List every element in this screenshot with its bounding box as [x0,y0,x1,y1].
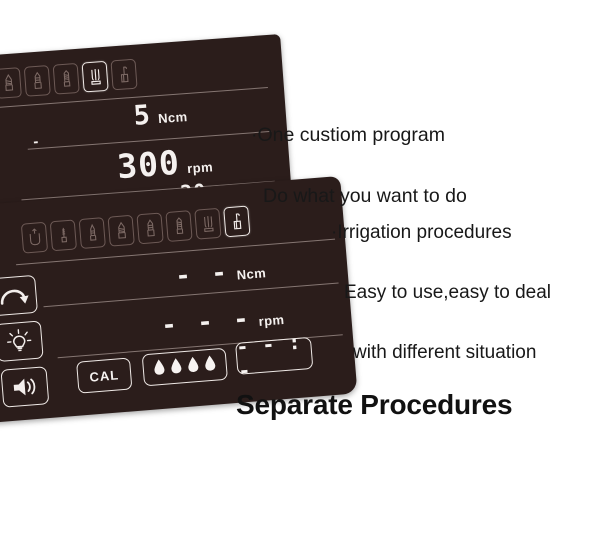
drill-twist-icon[interactable] [0,67,22,99]
implant-screw-icon[interactable] [53,63,80,95]
lower-torque-readout: - - Ncm [174,256,266,288]
upper-minus-indicator: - [33,134,39,149]
light-button[interactable] [0,320,44,362]
drill-twist-icon[interactable] [108,215,135,247]
volume-button[interactable] [0,366,49,408]
lower-ratio-label: - - : - [235,329,313,383]
lower-torque-value: - - [174,259,230,288]
tap-tool-icon[interactable] [82,61,109,93]
water-drop-filled-icon [169,356,184,380]
lower-procedure-icon-row[interactable] [21,205,251,253]
annotation-2-line2: Easy to use,easy to deal [344,282,551,303]
lower-speed-value: - - - [160,306,252,338]
lower-torque-unit: Ncm [236,265,266,282]
upper-speed-value: 300 [116,146,181,183]
upper-speed-readout: 300 rpm [116,143,214,183]
speaker-icon [9,374,41,400]
drill-pilot-icon[interactable] [79,217,106,249]
lower-irrigation-level[interactable] [142,348,228,387]
drill-step-icon[interactable] [136,212,163,244]
lower-speed-unit: rpm [258,312,285,329]
light-bulb-icon [4,326,34,356]
handpiece-icon[interactable] [21,222,48,254]
water-drop-filled-icon [186,354,201,378]
rotation-arrow-icon [0,281,30,309]
tap-tool-icon[interactable] [194,208,221,240]
annotation-irrigation: ·Irrigation procedures Easy to use,easy … [331,184,551,402]
upper-torque-readout: 5 Ncm [133,99,188,130]
headline: Separate Procedures [236,389,512,421]
annotation-2-line3: with different situation [353,342,536,363]
drill-thin-icon[interactable] [50,219,77,251]
annotation-1-line1: One custiom program [258,124,446,146]
drill-step-icon[interactable] [24,65,51,97]
lower-cal-button[interactable]: CAL [76,357,132,393]
driver-icon[interactable] [223,205,250,237]
driver-icon[interactable] [110,59,137,91]
upper-torque-unit: Ncm [158,109,188,126]
water-drop-filled-icon [152,357,167,381]
lower-ratio-display[interactable]: - - : - [235,337,313,375]
slide-canvas: 5 Ncm - 300 rpm CAL 20: 1 [0,0,600,540]
upper-speed-unit: rpm [187,159,214,176]
implant-screw-icon[interactable] [165,210,192,242]
water-drop-filled-icon [203,353,218,377]
annotation-2-line1: Irrigation procedures [337,222,511,243]
upper-torque-value: 5 [133,102,152,130]
lower-cal-label: CAL [89,367,120,384]
lower-water-drops [152,353,218,381]
reverse-rotation-button[interactable] [0,275,38,317]
